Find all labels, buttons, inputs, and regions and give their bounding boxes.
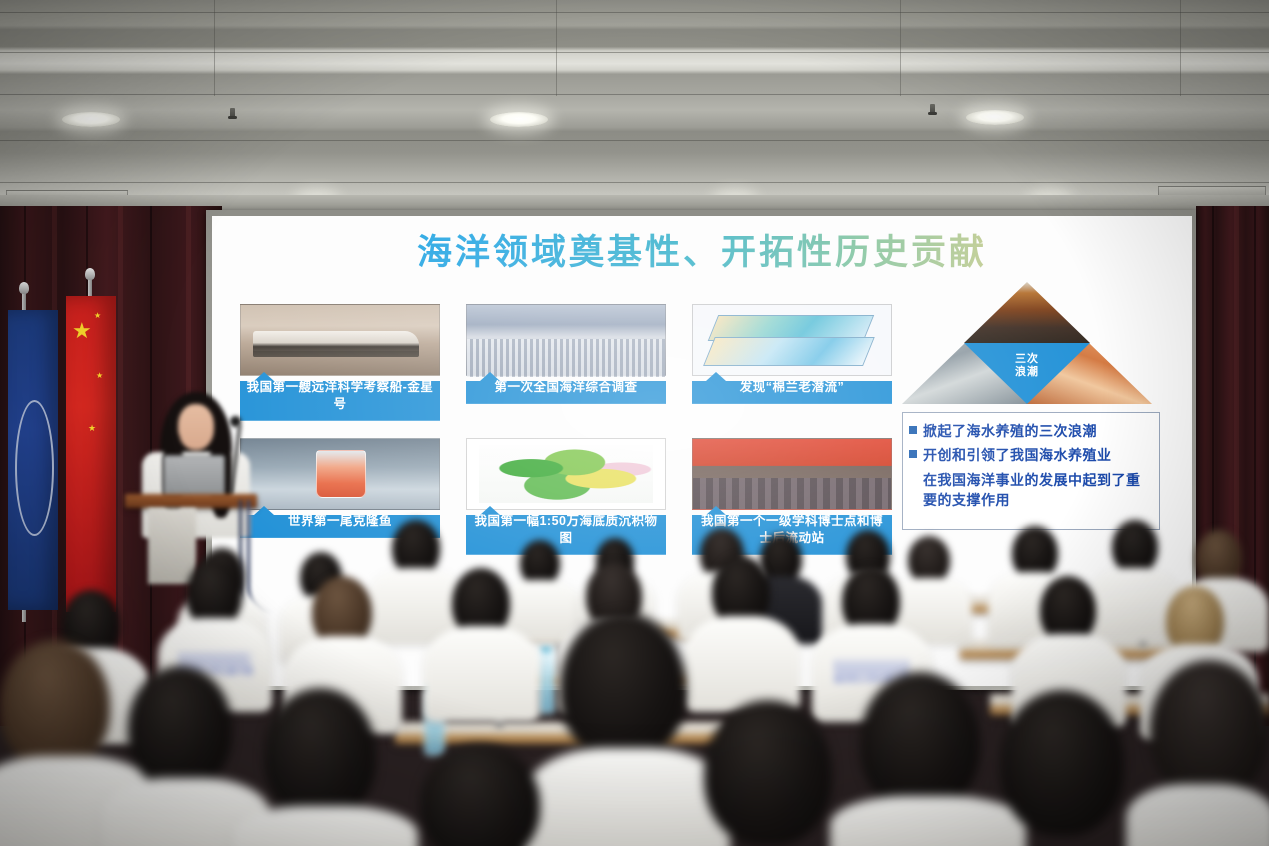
audience-head xyxy=(128,666,232,790)
audience-torso xyxy=(232,806,418,846)
bullet-square-icon xyxy=(909,450,917,458)
slide-bullet-box: 掀起了海水养殖的三次浪潮 开创和引领了我国海水养殖业 在我国海洋事业的发展中起到… xyxy=(902,412,1160,530)
slide-card-label: 我国第一幅1:50万海底质沉积物图 xyxy=(466,506,666,555)
podium-top xyxy=(125,494,257,508)
flag-star-small: ★ xyxy=(96,372,103,380)
audience-head xyxy=(1000,690,1124,836)
audience-head xyxy=(908,536,950,584)
audience-torso xyxy=(524,748,730,846)
audience-head xyxy=(420,744,540,846)
bullet-item: 掀起了海水养殖的三次浪潮 xyxy=(909,421,1151,441)
sprinkler-head xyxy=(930,104,935,115)
flag-star-small: ★ xyxy=(94,312,101,320)
bullet-text: 开创和引领了我国海水养殖业 xyxy=(923,445,1112,465)
tee-building-graphic xyxy=(180,652,251,665)
vintage-research-ship-photo xyxy=(240,304,440,376)
audience-torso xyxy=(424,626,540,722)
microphone-head xyxy=(230,416,241,427)
ceiling-downlight xyxy=(62,112,120,127)
flag-star-large: ★ xyxy=(72,320,92,342)
lecture-hall-photo: 海洋领域奠基性、开拓性历史贡献 我国第一艘远洋科学考察船-金星号 第一次全国海洋… xyxy=(0,0,1269,846)
bullet-item: 在我国海洋事业的发展中起到了重要的支撑作用 xyxy=(909,470,1151,511)
bullet-text: 在我国海洋事业的发展中起到了重要的支撑作用 xyxy=(923,470,1151,511)
podium-body xyxy=(148,508,196,584)
flag-star-small: ★ xyxy=(88,424,96,433)
audience-head xyxy=(1112,520,1158,574)
historic-crowd-ship-photo xyxy=(466,304,666,376)
seafloor-sediment-map xyxy=(466,438,666,510)
kelp-harvest-photo xyxy=(964,282,1090,343)
doctoral-forum-group-photo xyxy=(692,438,892,510)
bullet-square-icon xyxy=(909,426,917,434)
slide-card: 我国第一艘远洋科学考察船-金星号 xyxy=(240,304,440,421)
audience-head xyxy=(1150,660,1268,800)
presenter-face xyxy=(178,404,214,450)
bullet-text: 掀起了海水养殖的三次浪潮 xyxy=(923,421,1097,441)
presenter-laptop xyxy=(163,455,225,498)
tee-building-graphic xyxy=(835,660,909,673)
three-waves-pyramid: 三次 浪潮 xyxy=(902,282,1152,404)
audience-head xyxy=(0,640,110,770)
slide-card: 我国第一幅1:50万海底质沉积物图 xyxy=(466,438,666,555)
slide-card: 第一次全国海洋综合调查 xyxy=(466,304,666,404)
audio-cable xyxy=(247,500,272,612)
institute-flag-emblem xyxy=(15,400,54,536)
audience-head xyxy=(560,612,686,762)
audience-head xyxy=(860,672,980,812)
ocean-current-diagram xyxy=(692,304,892,376)
sprinkler-head xyxy=(230,108,235,119)
audience-torso xyxy=(830,796,1026,846)
slide-card-label: 发现“棉兰老潜流” xyxy=(692,372,892,404)
china-national-flag: ★ ★ ★ ★ xyxy=(66,296,116,612)
flagpole-finial xyxy=(19,282,29,294)
slide-title: 海洋领域奠基性、开拓性历史贡献 xyxy=(212,224,1192,275)
ceiling xyxy=(0,0,1269,212)
slide-card: 发现“棉兰老潜流” xyxy=(692,304,892,404)
bottle-cap xyxy=(541,645,551,652)
audience-torso xyxy=(1126,784,1269,846)
audience-head xyxy=(704,700,832,846)
slide-card-label: 我国第一艘远洋科学考察船-金星号 xyxy=(240,372,440,421)
ceiling-downlight xyxy=(966,110,1024,125)
audience-torso xyxy=(684,616,800,712)
audience-head xyxy=(264,688,376,820)
institute-flag xyxy=(8,310,58,610)
ceiling-downlight xyxy=(490,112,548,127)
flagpole-finial xyxy=(85,268,95,280)
bullet-item: 开创和引领了我国海水养殖业 xyxy=(909,445,1151,465)
